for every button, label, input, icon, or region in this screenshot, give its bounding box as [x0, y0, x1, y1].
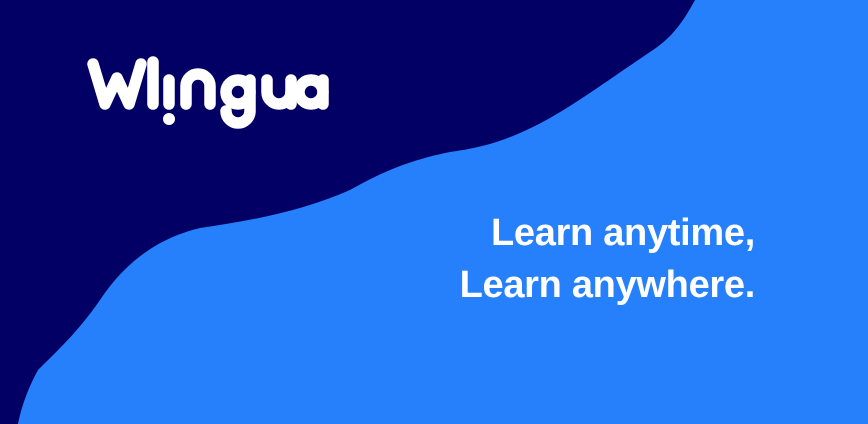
logo-letter-n: [186, 74, 210, 104]
logo-letter-w: [93, 64, 141, 104]
wlingua-logo-svg: [86, 56, 326, 128]
wlingua-logo[interactable]: [86, 56, 326, 128]
tagline-line-2: Learn anywhere.: [460, 259, 755, 311]
tagline: Learn anytime, Learn anywhere.: [460, 207, 755, 311]
logo-letter-i-dot-below: [163, 113, 175, 125]
logo-letter-g-bowl: [226, 80, 250, 104]
tagline-line-1: Learn anytime,: [460, 207, 755, 259]
brand-banner: Learn anytime, Learn anywhere.: [0, 0, 868, 424]
